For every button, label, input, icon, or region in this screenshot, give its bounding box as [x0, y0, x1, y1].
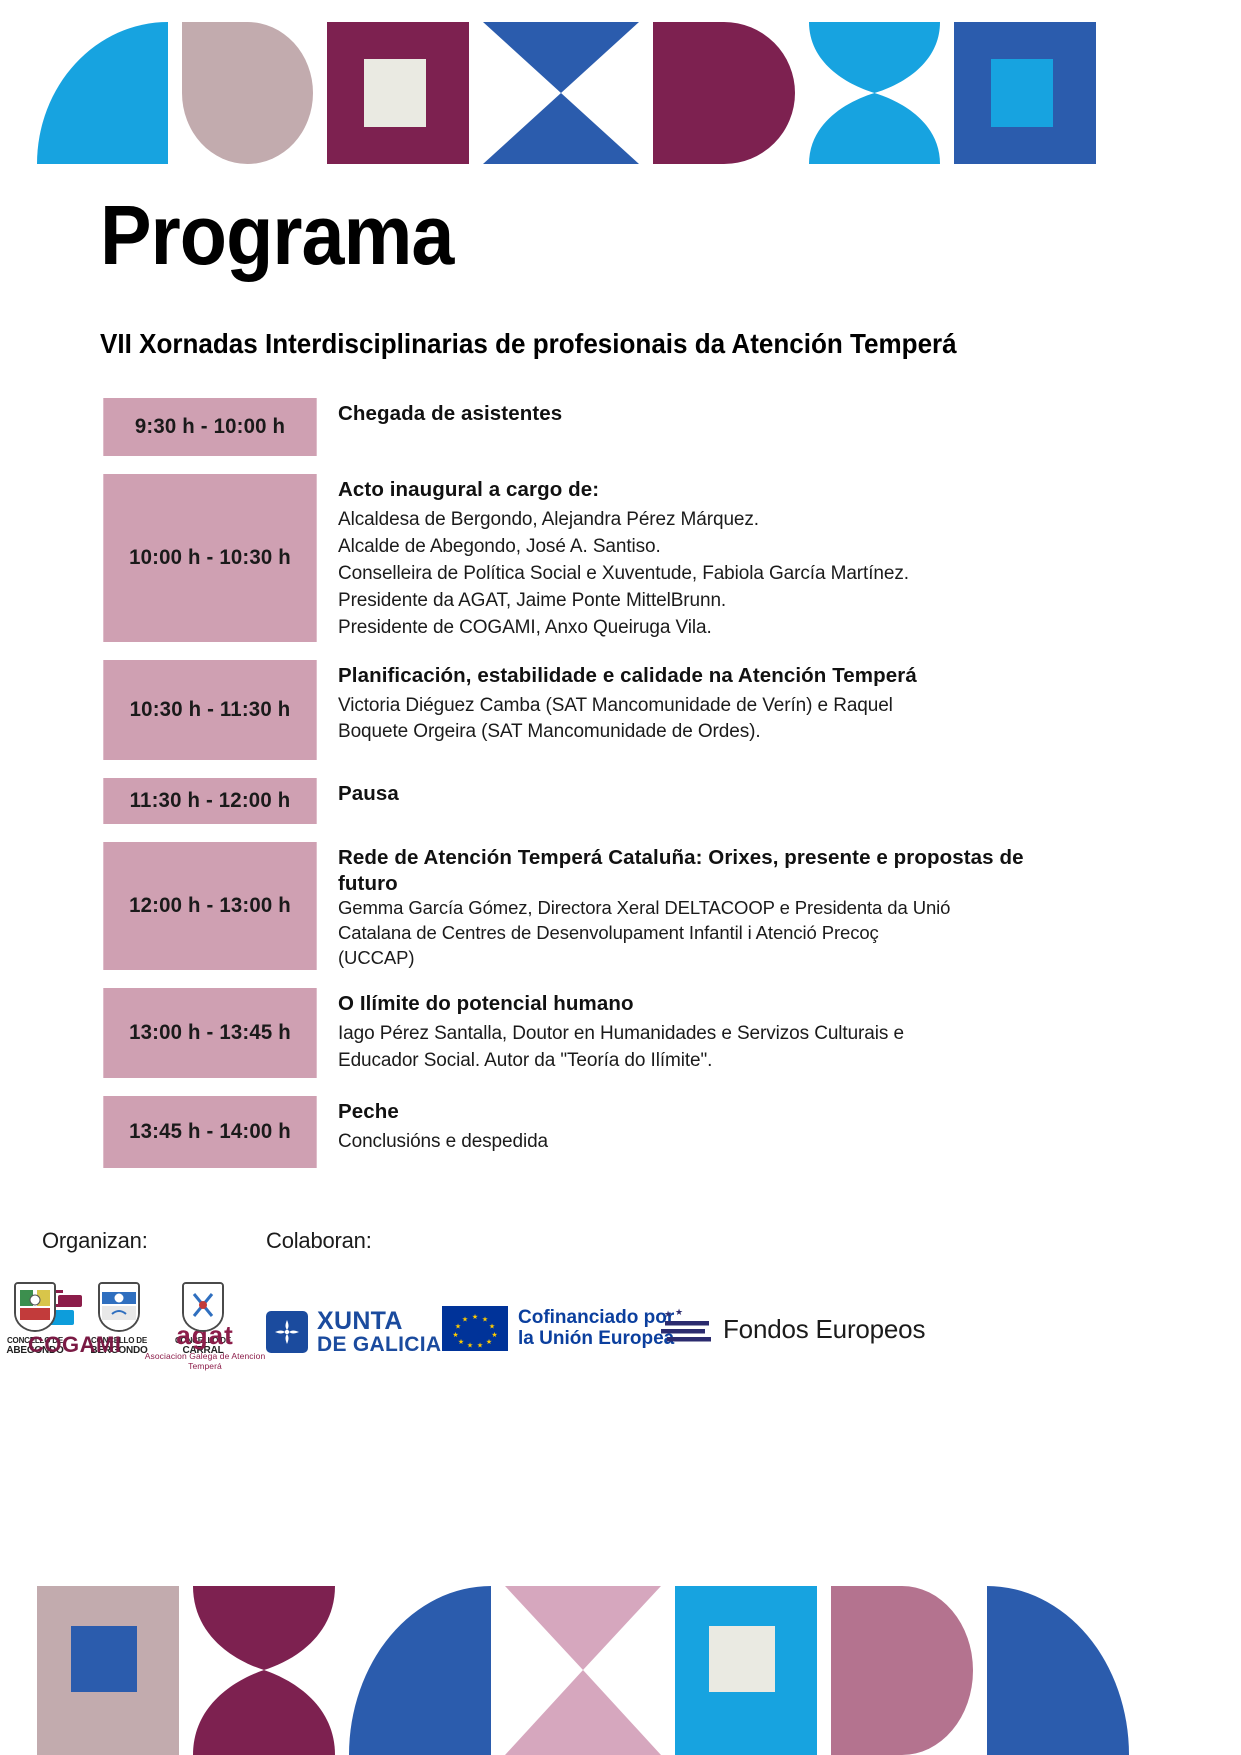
logo-strip: COGAMI agat Asociacion Galega de Atencio…	[0, 1282, 1241, 1392]
fondos-europeos-icon: ★ ★	[655, 1308, 713, 1350]
eu-logo-text: Cofinanciado por la Unión Europea	[518, 1308, 674, 1350]
shape-square-blue-with-cyan-inset	[954, 22, 1096, 164]
schedule-row: 12:00 h - 13:00 h Rede de Atención Tempe…	[100, 842, 1100, 970]
svg-text:★: ★	[472, 1313, 478, 1321]
schedule-detail-line: Victoria Diéguez Camba (SAT Mancomunidad…	[338, 693, 1100, 720]
svg-text:★: ★	[467, 1342, 473, 1350]
schedule-detail-line: Educador Social. Autor da "Teoría do Ilí…	[338, 1048, 1100, 1075]
schedule-heading: Rede de Atención Temperá Cataluña: Orixe…	[338, 845, 1078, 897]
svg-text:★: ★	[486, 1338, 492, 1346]
shape-square-cyan-with-cream-inset	[675, 1586, 817, 1755]
top-decorative-band	[0, 22, 1241, 164]
shape-half-round-rose	[831, 1586, 973, 1755]
svg-text:★: ★	[664, 1309, 672, 1319]
schedule-detail-line: Conclusións e despedida	[338, 1129, 1100, 1156]
schedule-row: 13:00 h - 13:45 h O Ilímite do potencial…	[100, 988, 1100, 1078]
xunta-line2: DE GALICIA	[317, 1334, 441, 1356]
shape-quarter-circle-blue-right	[987, 1586, 1129, 1755]
shape-hourglass-cyan	[809, 22, 940, 164]
fondos-europeos-text: Fondos Europeos	[723, 1314, 925, 1345]
inner-square-cyan	[991, 59, 1053, 127]
eu-flag-icon: ★ ★ ★ ★ ★ ★ ★ ★ ★ ★ ★	[442, 1306, 508, 1351]
schedule-time: 9:30 h - 10:00 h	[103, 398, 316, 456]
page-subtitle: VII Xornadas Interdisciplinarias de prof…	[100, 328, 957, 360]
schedule-detail-line: Alcaldesa de Bergondo, Alejandra Pérez M…	[338, 507, 1100, 534]
shape-bowtie-blue	[483, 22, 639, 164]
shape-bowtie-pink	[505, 1586, 661, 1755]
xunta-emblem-icon	[266, 1311, 308, 1353]
abegondo-shield-icon	[14, 1282, 56, 1332]
svg-text:★: ★	[482, 1316, 488, 1324]
svg-text:★: ★	[458, 1338, 464, 1346]
schedule-row: 9:30 h - 10:00 h Chegada de asistentes	[100, 398, 1100, 456]
svg-text:★: ★	[489, 1323, 495, 1331]
schedule-detail-line: Catalana de Centres de Desenvolupament I…	[338, 921, 1100, 946]
xunta-logo-text: XUNTA DE GALICIA	[317, 1308, 441, 1356]
schedule-time: 13:00 h - 13:45 h	[103, 988, 316, 1078]
schedule-description: Planificación, estabilidade e calidade n…	[320, 660, 1100, 760]
schedule-time: 13:45 h - 14:00 h	[103, 1096, 316, 1168]
schedule-description: Rede de Atención Temperá Cataluña: Orixe…	[320, 842, 1100, 970]
inner-square-cream-bottom	[709, 1626, 775, 1692]
shape-quarter-circle-blue	[349, 1586, 491, 1755]
carral-shield-icon	[182, 1282, 224, 1332]
bottom-decorative-band	[0, 1586, 1241, 1755]
cogami-logo-text: COGAMI	[28, 1332, 128, 1358]
schedule-list: 9:30 h - 10:00 h Chegada de asistentes 1…	[100, 398, 1100, 1186]
footer: Organizan: Colaboran: COGAMI agat Asocia…	[0, 1228, 1241, 1392]
xunta-de-galicia-logo: XUNTA DE GALICIA	[266, 1308, 441, 1356]
schedule-heading: Planificación, estabilidade e calidade n…	[338, 663, 1100, 689]
schedule-heading: Chegada de asistentes	[338, 401, 1100, 427]
schedule-detail-line: Gemma García Gómez, Directora Xeral DELT…	[338, 896, 1100, 921]
schedule-description: Chegada de asistentes	[320, 398, 1100, 456]
eu-line2: la Unión Europea	[518, 1329, 674, 1350]
svg-text:★: ★	[452, 1331, 458, 1339]
schedule-time: 10:00 h - 10:30 h	[103, 474, 316, 642]
page-title: Programa	[100, 193, 453, 277]
svg-text:★: ★	[455, 1323, 461, 1331]
schedule-detail-line: Alcalde de Abegondo, José A. Santiso.	[338, 534, 1100, 561]
european-union-logo: ★ ★ ★ ★ ★ ★ ★ ★ ★ ★ ★ Cofinanciado por	[442, 1306, 674, 1351]
schedule-heading: Pausa	[338, 781, 1100, 807]
shape-half-round-maroon	[653, 22, 795, 164]
inner-square-cream	[364, 59, 426, 127]
agat-tagline: Asociacion Galega de Atencion Temperá	[140, 1351, 270, 1371]
schedule-description: Peche Conclusións e despedida	[320, 1096, 1100, 1168]
svg-text:★: ★	[462, 1316, 468, 1324]
shape-quarter-circle-cyan	[37, 22, 168, 164]
schedule-description: Acto inaugural a cargo de: Alcaldesa de …	[320, 474, 1100, 642]
shape-rounded-mauve	[182, 22, 313, 164]
schedule-row: 11:30 h - 12:00 h Pausa	[100, 778, 1100, 824]
schedule-row: 10:30 h - 11:30 h Planificación, estabil…	[100, 660, 1100, 760]
svg-text:★: ★	[491, 1331, 497, 1339]
schedule-heading: Peche	[338, 1099, 1100, 1125]
footer-labels: Organizan: Colaboran:	[0, 1228, 1241, 1266]
fondos-europeos-logo: ★ ★ Fondos Europeos	[655, 1308, 925, 1350]
schedule-time: 12:00 h - 13:00 h	[103, 842, 316, 970]
schedule-time: 10:30 h - 11:30 h	[103, 660, 316, 760]
organizan-label: Organizan:	[42, 1228, 148, 1254]
schedule-row: 10:00 h - 10:30 h Acto inaugural a cargo…	[100, 474, 1100, 642]
schedule-description: O Ilímite do potencial humano Iago Pérez…	[320, 988, 1100, 1078]
shape-square-mauve-with-blue-inset	[37, 1586, 179, 1755]
schedule-detail-line: Iago Pérez Santalla, Doutor en Humanidad…	[338, 1021, 1100, 1048]
schedule-description: Pausa	[320, 778, 1100, 824]
svg-text:★: ★	[477, 1342, 483, 1350]
bergondo-shield-icon	[98, 1282, 140, 1332]
svg-text:★: ★	[675, 1308, 683, 1317]
schedule-detail-line: Conselleira de Política Social e Xuventu…	[338, 561, 1100, 588]
eu-line1: Cofinanciado por	[518, 1308, 674, 1329]
schedule-time: 11:30 h - 12:00 h	[103, 778, 316, 824]
schedule-heading: Acto inaugural a cargo de:	[338, 477, 1100, 503]
inner-square-blue	[71, 1626, 137, 1692]
schedule-heading: O Ilímite do potencial humano	[338, 991, 1100, 1017]
xunta-line1: XUNTA	[317, 1308, 441, 1334]
schedule-detail-line: Presidente da AGAT, Jaime Ponte MittelBr…	[338, 588, 1100, 615]
shape-square-maroon-with-cream-inset	[327, 22, 469, 164]
schedule-row: 13:45 h - 14:00 h Peche Conclusións e de…	[100, 1096, 1100, 1168]
colaboran-label: Colaboran:	[266, 1228, 372, 1254]
schedule-detail-line: Presidente de COGAMI, Anxo Queiruga Vila…	[338, 615, 1100, 642]
schedule-detail-line: Boquete Orgeira (SAT Mancomunidade de Or…	[338, 719, 1100, 746]
shape-hourglass-maroon	[193, 1586, 335, 1755]
schedule-detail-line: (UCCAP)	[338, 946, 1100, 971]
